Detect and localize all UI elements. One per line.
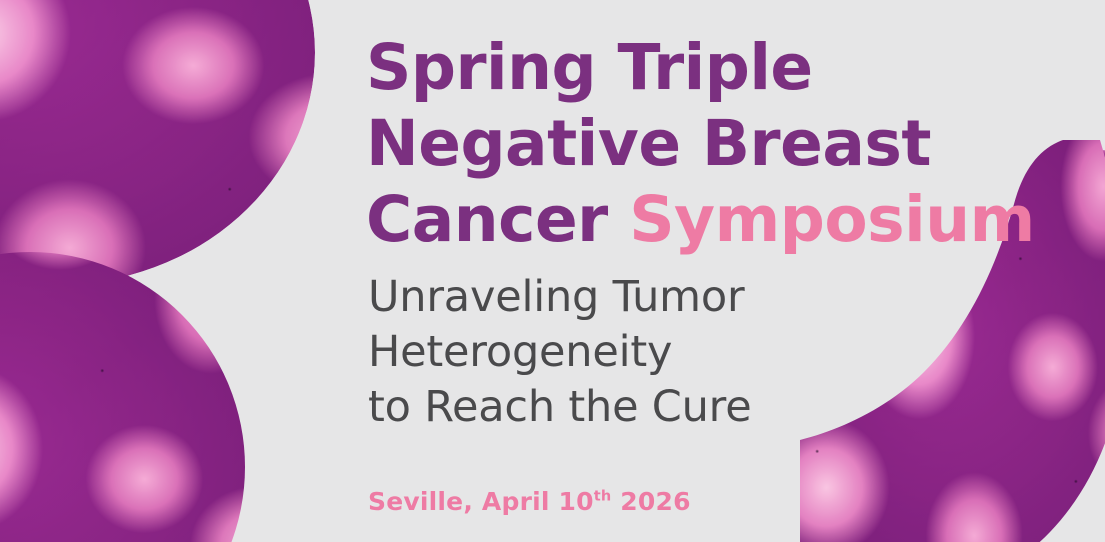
date-prefix: Seville, April 10 <box>368 487 594 516</box>
tissue-texture <box>0 0 315 285</box>
event-date-location: Seville, April 10th 2026 <box>368 487 691 516</box>
title-line-1: Spring Triple <box>366 30 1035 106</box>
poster-content: Spring Triple Negative Breast Cancer Sym… <box>366 0 1066 542</box>
symposium-poster: Spring Triple Negative Breast Cancer Sym… <box>0 0 1105 542</box>
subtitle-line-2: Heterogeneity <box>368 325 751 380</box>
page-subtitle: Unraveling Tumor Heterogeneity to Reach … <box>368 270 751 435</box>
title-line-2: Negative Breast <box>366 106 1035 182</box>
tissue-texture <box>0 252 245 542</box>
subtitle-line-3: to Reach the Cure <box>368 380 751 435</box>
date-year: 2026 <box>611 487 690 516</box>
date-ordinal-suffix: th <box>594 489 612 505</box>
subtitle-line-1: Unraveling Tumor <box>368 270 751 325</box>
title-line-3: Cancer Symposium <box>366 182 1035 258</box>
histology-blob-top-left-image <box>0 0 315 285</box>
title-line-3-main: Cancer <box>366 183 629 256</box>
histology-blob-bottom-left-image <box>0 252 245 542</box>
title-line-3-accent: Symposium <box>629 183 1035 256</box>
page-title: Spring Triple Negative Breast Cancer Sym… <box>366 30 1035 258</box>
